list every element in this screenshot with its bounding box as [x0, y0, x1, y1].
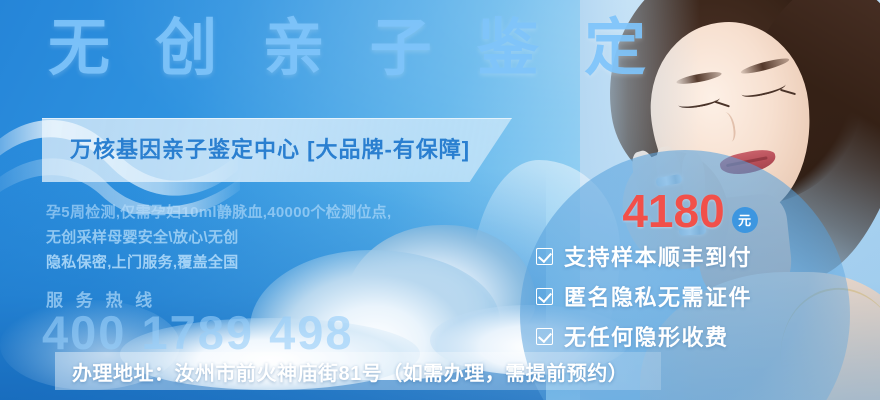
check-icon — [536, 248, 553, 265]
list-item: 无任何隐形收费 — [536, 316, 836, 356]
model-eyebrow-left — [676, 70, 723, 87]
price-block: 4180 元 — [560, 188, 820, 236]
model-eyelash-right — [780, 89, 796, 95]
model-nose — [719, 111, 737, 142]
feature-label: 无任何隐形收费 — [564, 320, 729, 352]
address-bar: 办理地址：汝州市前火神庙街81号（如需办理，需提前预约） — [55, 352, 661, 390]
model-eye-left — [677, 92, 720, 110]
copy-line: 孕5周检测,仅需孕妇10ml静脉血,40000个检测位点, — [46, 200, 466, 225]
copy-line: 无创采样母婴安全\放心\无创 — [46, 225, 466, 250]
list-item: 匿名隐私无需证件 — [536, 276, 836, 316]
model-lips — [719, 147, 778, 178]
model-eye-right — [740, 79, 786, 100]
subtitle-text: 万核基因亲子鉴定中心 [大品牌-有保障] — [70, 132, 470, 164]
check-icon — [536, 288, 553, 305]
feature-list: 支持样本顺丰到付 匿名隐私无需证件 无任何隐形收费 — [536, 236, 836, 356]
price-unit-badge: 元 — [732, 207, 758, 233]
list-item: 支持样本顺丰到付 — [536, 236, 836, 276]
model-eyebrow-right — [740, 56, 790, 77]
body-copy: 孕5周检测,仅需孕妇10ml静脉血,40000个检测位点, 无创采样母婴安全\放… — [46, 200, 466, 275]
page-title: 无 创 亲 子 鉴 定 — [48, 18, 660, 80]
price-value: 4180 — [622, 188, 724, 234]
promo-banner: 无 创 亲 子 鉴 定 万核基因亲子鉴定中心 [大品牌-有保障] 孕5周检测,仅… — [0, 0, 880, 400]
feature-label: 支持样本顺丰到付 — [564, 240, 752, 272]
model-eyelash-left — [714, 101, 730, 108]
copy-line: 隐私保密,上门服务,覆盖全国 — [46, 250, 466, 275]
feature-label: 匿名隐私无需证件 — [564, 280, 752, 312]
check-icon — [536, 328, 553, 345]
address-text: 办理地址：汝州市前火神庙街81号（如需办理，需提前预约） — [72, 357, 628, 386]
